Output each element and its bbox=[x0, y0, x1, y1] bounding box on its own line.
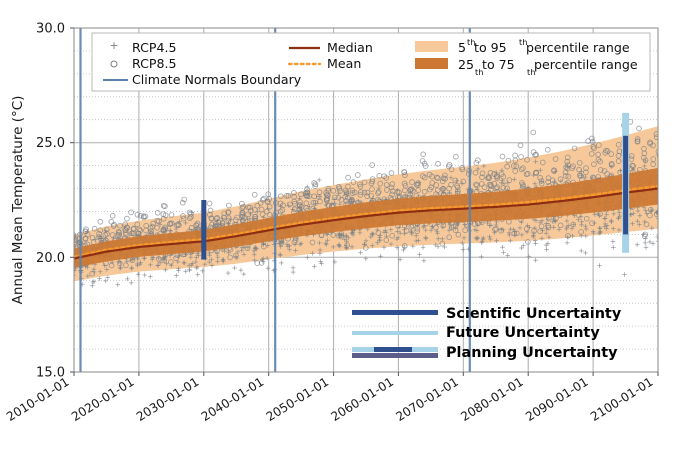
x-tick-label: 2010-01-01 bbox=[4, 375, 71, 424]
bar-icon-planning-dark bbox=[374, 347, 412, 352]
plus-icon: + bbox=[109, 39, 118, 52]
legend-label-normals: Climate Normals Boundary bbox=[132, 72, 302, 87]
legend-label-range-25-75-suffix: percentile range bbox=[534, 57, 638, 72]
legend-label-mean: Mean bbox=[327, 56, 361, 71]
y-axis-ticks: 30.025.020.015.0 bbox=[36, 22, 74, 381]
y-axis-label: Annual Mean Temperature (°C) bbox=[10, 96, 26, 305]
x-tick-label: 2040-01-01 bbox=[199, 375, 266, 424]
bar-icon-scientific bbox=[352, 310, 438, 315]
legend-label-scientific: Scientific Uncertainty bbox=[446, 306, 622, 322]
legend-label-median: Median bbox=[327, 40, 373, 55]
x-tick-label: 2060-01-01 bbox=[329, 375, 396, 424]
uncertainty-bar bbox=[623, 136, 628, 235]
legend-label-planning: Planning Uncertainty bbox=[446, 345, 618, 361]
x-tick-label: 2030-01-01 bbox=[134, 375, 201, 424]
legend-label-range-25-75-prefix: 25 bbox=[458, 57, 474, 72]
legend-label-range-5-95-prefix: 5 bbox=[458, 40, 466, 55]
chart-canvas: 30.025.020.015.0 2010-01-012020-01-01203… bbox=[0, 0, 696, 451]
main-legend: + RCP4.5 RCP8.5 Climate Normals Boundary… bbox=[92, 33, 650, 91]
legend-label-range-5-95-suffix: percentile range bbox=[526, 40, 630, 55]
swatch-icon-outer bbox=[415, 41, 448, 52]
x-axis-ticks: 2010-01-012020-01-012030-01-012040-01-01… bbox=[4, 372, 658, 424]
y-tick-label: 30.0 bbox=[36, 22, 65, 37]
legend-label-future: Future Uncertainty bbox=[446, 325, 600, 341]
legend-label-rcp85: RCP8.5 bbox=[132, 56, 177, 71]
legend-item-normals[interactable]: Climate Normals Boundary bbox=[103, 72, 302, 87]
y-tick-label: 25.0 bbox=[36, 136, 65, 151]
legend-label-range-5-95-mid: to 95 bbox=[474, 40, 507, 55]
uncertainty-bar bbox=[201, 200, 206, 260]
x-tick-label: 2070-01-01 bbox=[393, 375, 460, 424]
swatch-icon-inner bbox=[415, 58, 448, 69]
x-tick-label: 2100-01-01 bbox=[588, 375, 655, 424]
bar-icon-planning-base bbox=[352, 353, 438, 358]
bar-icon-future bbox=[352, 331, 438, 335]
legend-label-range-25-75-mid: to 75 bbox=[482, 57, 515, 72]
x-tick-label: 2020-01-01 bbox=[69, 375, 136, 424]
y-tick-label: 20.0 bbox=[36, 251, 65, 266]
x-tick-label: 2090-01-01 bbox=[523, 375, 590, 424]
x-tick-label: 2050-01-01 bbox=[264, 375, 331, 424]
x-tick-label: 2080-01-01 bbox=[458, 375, 525, 424]
chart-figure: 30.025.020.015.0 2010-01-012020-01-01203… bbox=[0, 0, 696, 451]
legend-label-rcp45: RCP4.5 bbox=[132, 40, 177, 55]
